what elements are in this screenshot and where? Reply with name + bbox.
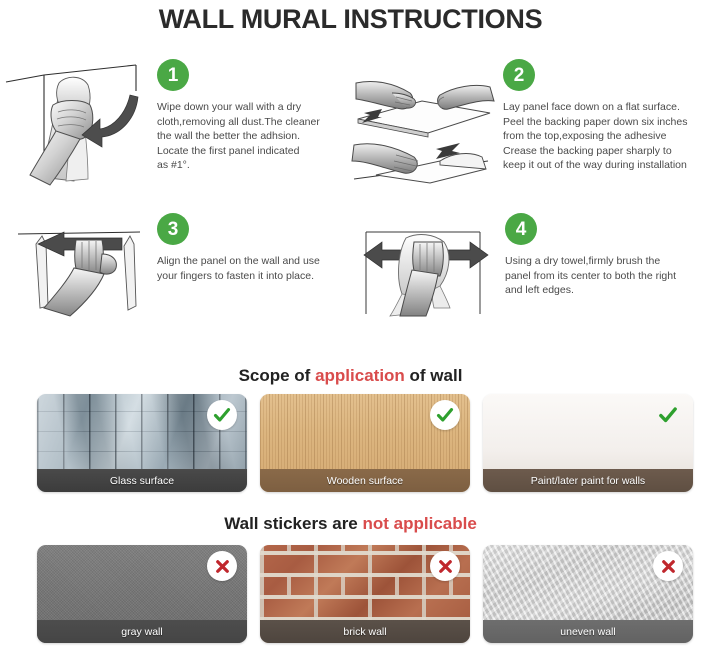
not-applicable-heading-before: Wall stickers are	[224, 514, 362, 533]
step-1: 1 Wipe down your wall with a dry cloth,r…	[0, 55, 340, 195]
step-1-description: Wipe down your wall with a dry cloth,rem…	[157, 100, 337, 173]
check-icon	[430, 400, 460, 430]
cross-icon	[653, 551, 683, 581]
surface-card-gray-wall[interactable]: gray wall	[37, 545, 247, 643]
surface-card-paint[interactable]: Paint/later paint for walls	[483, 394, 693, 492]
check-icon	[653, 400, 683, 430]
step-4-illustration	[348, 210, 498, 320]
surface-card-glass[interactable]: Glass surface	[37, 394, 247, 492]
step-4-description: Using a dry towel,firmly brush the panel…	[505, 254, 700, 298]
applicable-heading: Scope of application of wall	[0, 366, 701, 386]
cross-icon	[207, 551, 237, 581]
surface-card-brick-wall[interactable]: brick wall	[260, 545, 470, 643]
surface-card-brick-wall-label: brick wall	[260, 620, 470, 643]
surface-card-wooden[interactable]: Wooden surface	[260, 394, 470, 492]
step-2: 2 Lay panel face down on a flat surface.…	[348, 55, 701, 195]
surface-card-uneven-wall-label: uneven wall	[483, 620, 693, 643]
step-3-badge: 3	[157, 213, 189, 245]
step-1-badge: 1	[157, 59, 189, 91]
applicable-cards: Glass surface Wooden surface Paint/later…	[0, 394, 701, 494]
not-applicable-heading: Wall stickers are not applicable	[0, 514, 701, 534]
wall-mural-instruction-sheet: WALL MURAL INSTRUCTIONS	[0, 0, 701, 650]
step-2-badge: 2	[503, 59, 535, 91]
surface-card-glass-label: Glass surface	[37, 469, 247, 492]
step-3-text-block: 3 Align the panel on the wall and use yo…	[157, 213, 337, 283]
step-3-illustration	[4, 210, 149, 320]
not-applicable-cards: gray wall brick wall uneven wall	[0, 545, 701, 645]
surface-card-paint-label: Paint/later paint for walls	[483, 469, 693, 492]
step-1-text-block: 1 Wipe down your wall with a dry cloth,r…	[157, 59, 337, 173]
applicable-heading-before: Scope of	[239, 366, 316, 385]
step-4-badge: 4	[505, 213, 537, 245]
step-1-illustration	[4, 57, 149, 192]
applicable-heading-highlight: application	[315, 366, 405, 385]
check-icon	[207, 400, 237, 430]
step-2-text-block: 2 Lay panel face down on a flat surface.…	[503, 59, 701, 173]
surface-card-wooden-label: Wooden surface	[260, 469, 470, 492]
step-2-illustration	[348, 57, 498, 192]
not-applicable-heading-highlight: not applicable	[363, 514, 477, 533]
step-4: 4 Using a dry towel,firmly brush the pan…	[348, 210, 701, 325]
step-3-description: Align the panel on the wall and use your…	[157, 254, 337, 283]
page-title: WALL MURAL INSTRUCTIONS	[0, 4, 701, 35]
surface-card-uneven-wall[interactable]: uneven wall	[483, 545, 693, 643]
applicable-heading-after: of wall	[405, 366, 463, 385]
step-3: 3 Align the panel on the wall and use yo…	[0, 210, 340, 325]
steps-section: 1 Wipe down your wall with a dry cloth,r…	[0, 55, 701, 325]
surface-card-gray-wall-label: gray wall	[37, 620, 247, 643]
step-2-description: Lay panel face down on a flat surface. P…	[503, 100, 701, 173]
cross-icon	[430, 551, 460, 581]
step-4-text-block: 4 Using a dry towel,firmly brush the pan…	[505, 213, 700, 298]
